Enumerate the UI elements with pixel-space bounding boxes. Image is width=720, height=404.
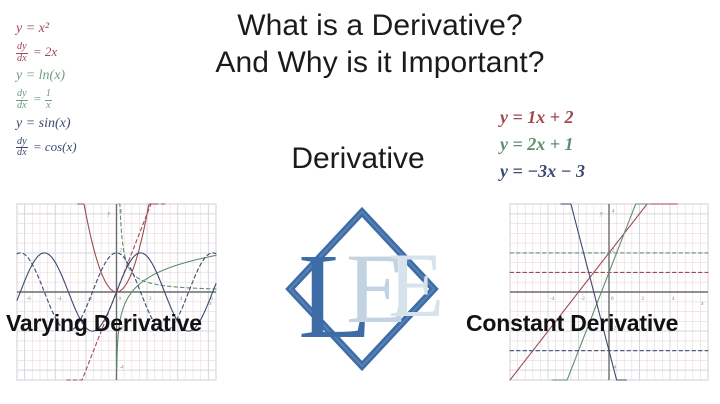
equation-text: y = x²	[16, 21, 49, 36]
center-derivative-label: Derivative	[238, 142, 478, 176]
constant-derivative-graph: -4-2024-4-224xy	[502, 198, 714, 386]
caption-varying-derivative: Varying Derivative	[6, 310, 202, 337]
title-line-2: And Why is it Important?	[150, 45, 610, 82]
slide-canvas: What is a Derivative? And Why is it Impo…	[0, 0, 720, 404]
y-tick-label: -4	[120, 366, 125, 371]
equation-y-ln-x: y = ln(x)	[16, 69, 136, 83]
caption-constant-derivative: Constant Derivative	[466, 310, 678, 337]
fraction-denominator: dx	[16, 101, 28, 112]
left-equation-list: y = x² dy dx = 2x y = ln(x) dy dx = 1 x …	[16, 22, 136, 164]
fraction-dy-dx: dy dx	[16, 89, 28, 111]
equation-dy-dx-cos-x: dy dx = cos(x)	[16, 137, 136, 159]
fraction-denominator: dx	[16, 54, 28, 65]
equation-text: y = ln(x)	[16, 68, 65, 83]
y-axis-label: y	[599, 211, 603, 217]
equation-rhs: = cos(x)	[33, 139, 77, 154]
equation-line-2: y = 2x + 1	[500, 135, 660, 153]
fraction-denominator: x	[45, 101, 52, 112]
x-tick-label: -4	[550, 297, 555, 302]
varying-derivative-graph: -6-4-20246-4-224xy	[8, 198, 222, 386]
constant-derivative-plot: -4-2024-4-224xy	[502, 198, 714, 386]
lee-diamond-logo: L E E	[284, 204, 440, 374]
equation-line-3: y = −3x − 3	[500, 162, 660, 180]
title-line-1: What is a Derivative?	[150, 8, 610, 45]
right-equation-list: y = 1x + 2 y = 2x + 1 y = −3x − 3	[500, 108, 660, 189]
equation-line-1: y = 1x + 2	[500, 108, 660, 126]
equation-y-x-squared: y = x²	[16, 22, 136, 36]
logo-letter-e-2: E	[388, 234, 440, 336]
equation-dy-dx-2x: dy dx = 2x	[16, 42, 136, 64]
logo-graphic: L E E	[284, 204, 440, 374]
equation-y-sin-x: y = sin(x)	[16, 117, 136, 131]
fraction-one-over-x: 1 x	[45, 89, 52, 111]
fraction-numerator: dy	[16, 42, 28, 54]
fraction-dy-dx: dy dx	[16, 42, 28, 64]
equation-rhs: = 2x	[33, 44, 57, 59]
equation-equals: =	[33, 91, 42, 106]
x-tick-label: -6	[27, 297, 32, 302]
x-tick-label: -2	[581, 297, 586, 302]
y-axis-label: y	[107, 211, 111, 217]
x-axis-label: x	[700, 301, 704, 307]
x-tick-label: -4	[57, 297, 62, 302]
varying-derivative-plot: -6-4-20246-4-224xy	[8, 198, 222, 386]
page-title: What is a Derivative? And Why is it Impo…	[150, 8, 610, 81]
fraction-dy-dx: dy dx	[16, 137, 28, 159]
equation-dy-dx-one-over-x: dy dx = 1 x	[16, 89, 136, 111]
equation-text: y = sin(x)	[16, 116, 71, 131]
fraction-denominator: dx	[16, 148, 28, 159]
